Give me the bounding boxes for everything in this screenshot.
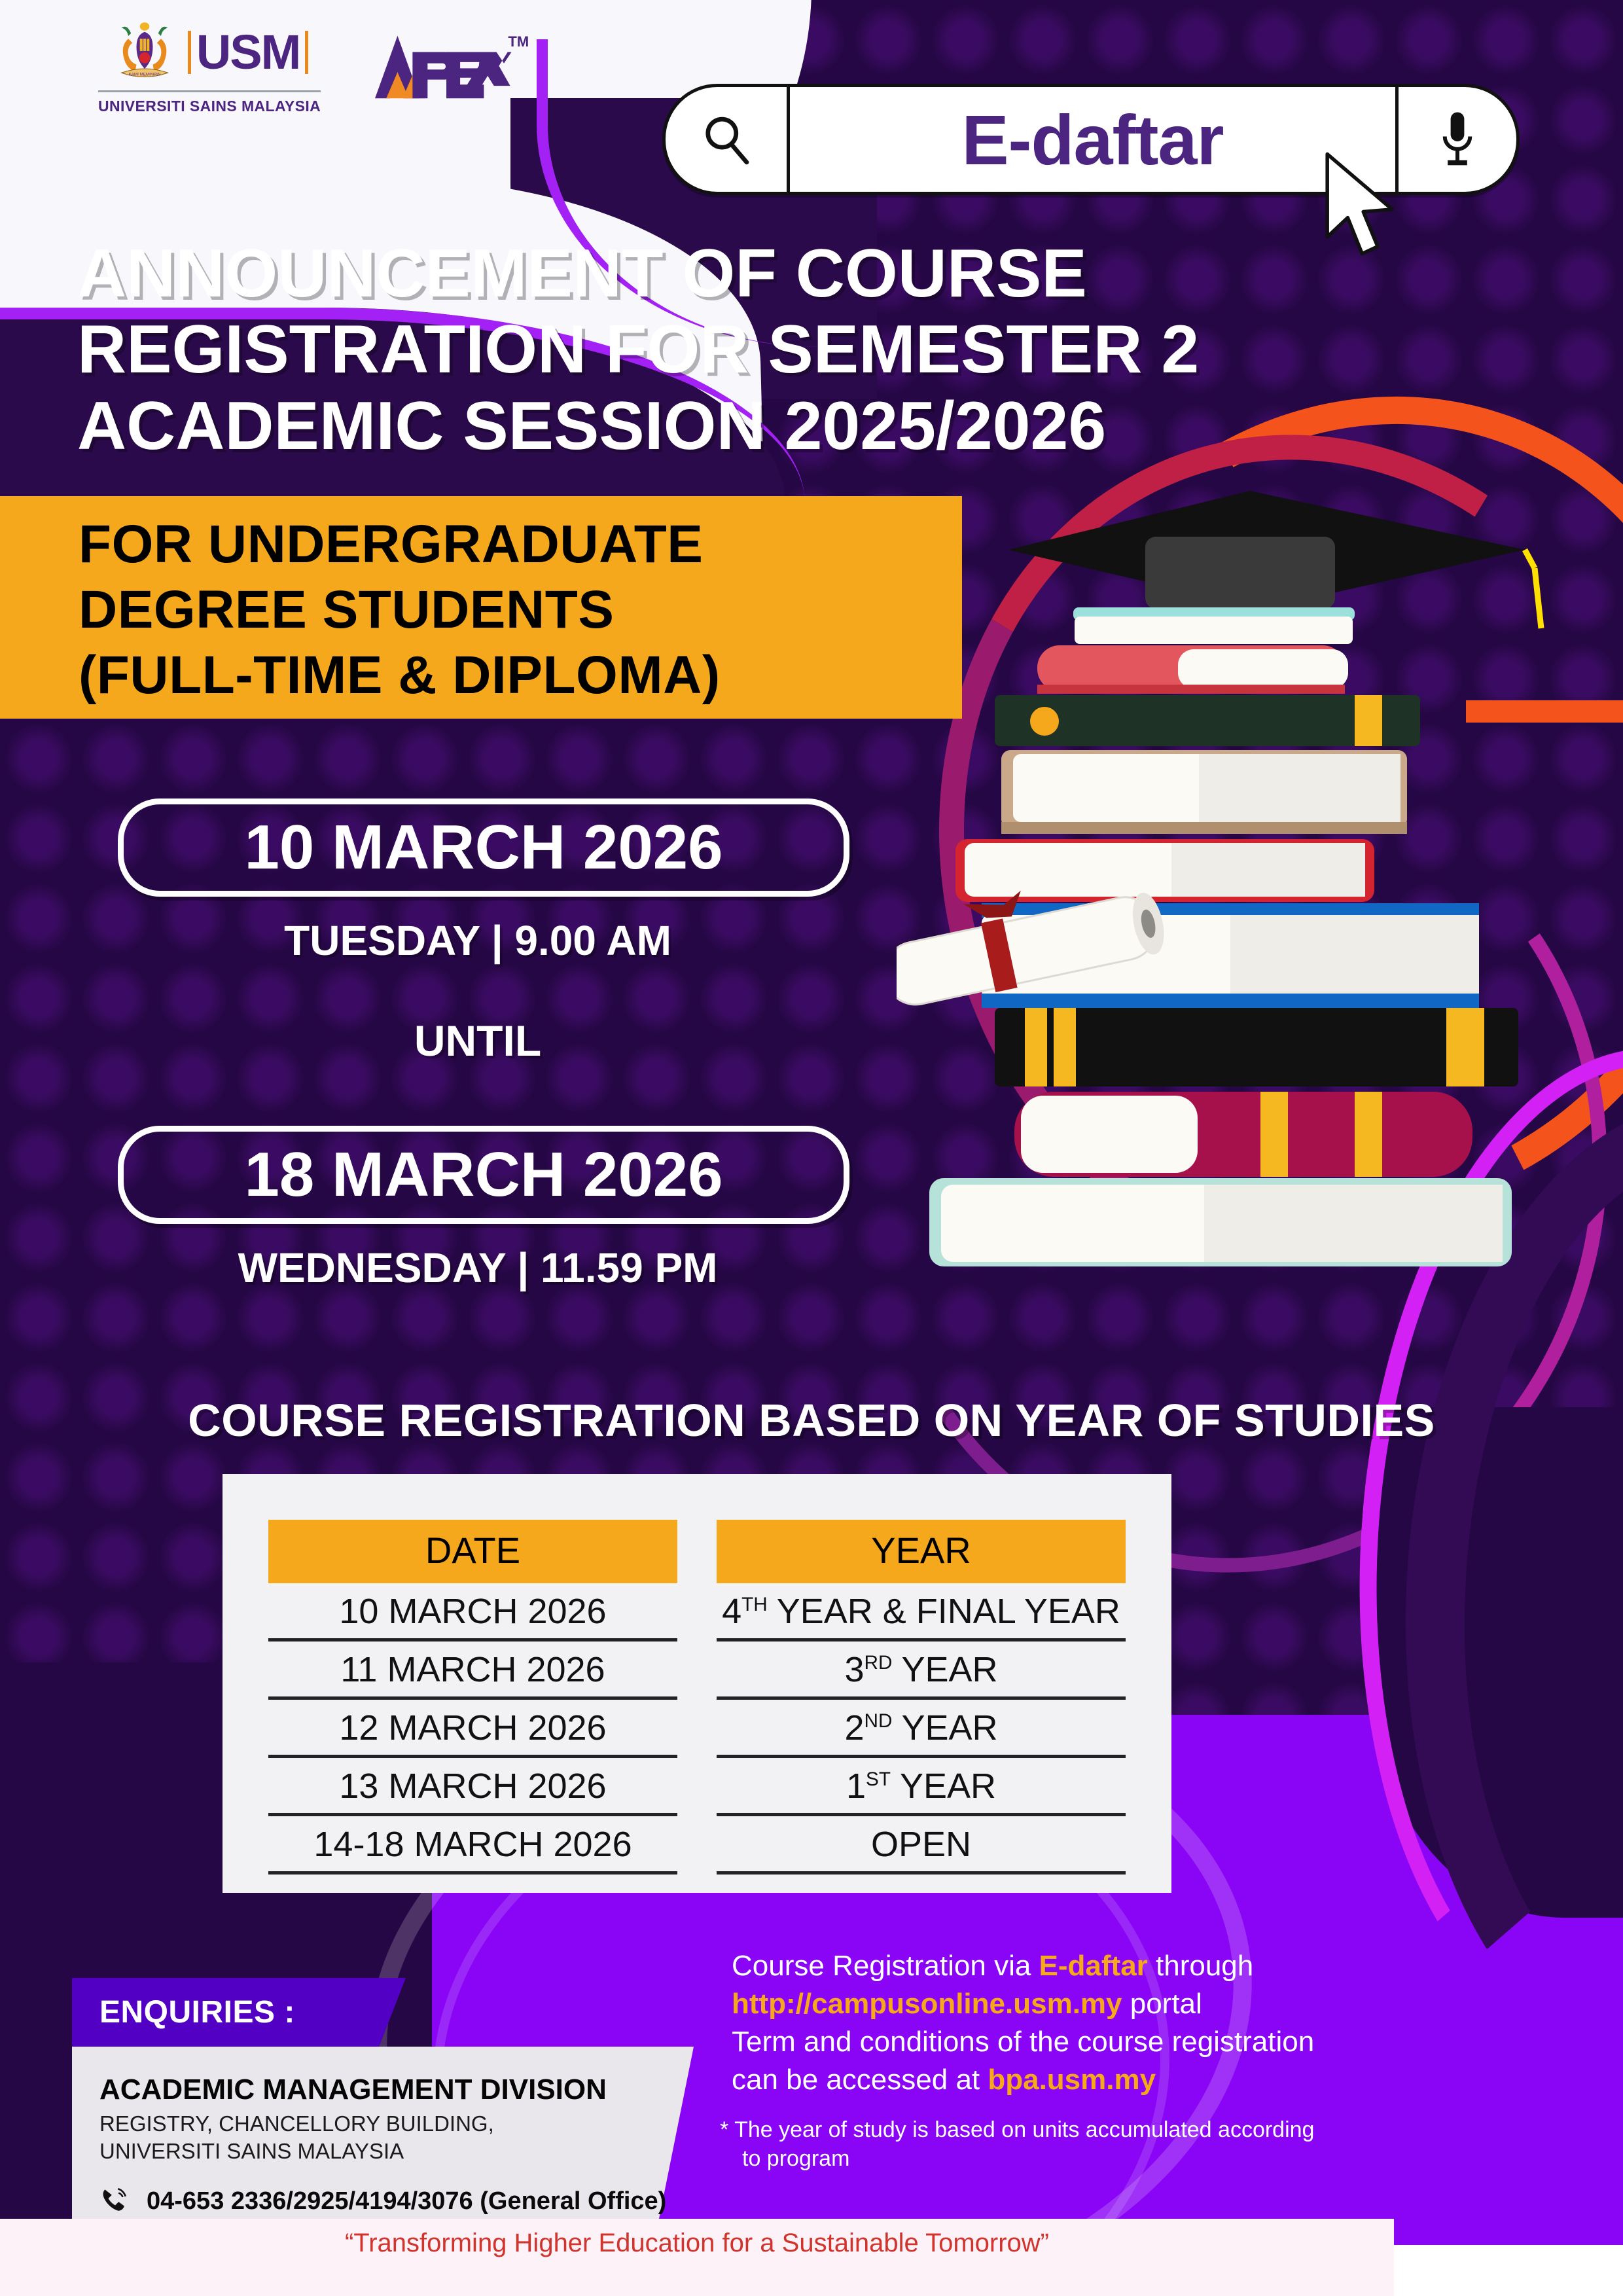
footer-tagline: “Transforming Higher Education for a Sus… bbox=[0, 2229, 1394, 2258]
cursor-arrow-icon bbox=[1322, 151, 1407, 255]
usm-logo: KAMI MEMIMPIN USM UNIVERSITI SAINS MALAY… bbox=[98, 18, 321, 115]
column-header-date: DATE bbox=[268, 1520, 677, 1583]
usm-crest-icon: KAMI MEMIMPIN bbox=[111, 18, 179, 86]
portal-link[interactable]: http://campusonline.usm.my bbox=[732, 1988, 1122, 2020]
phone-icon bbox=[99, 2185, 130, 2218]
page-title-line-2: REGISTRATION FOR SEMESTER 2 bbox=[77, 312, 1255, 387]
audience-line-1: FOR UNDERGRADUATE bbox=[79, 512, 721, 577]
terms-link[interactable]: bpa.usm.my bbox=[988, 2064, 1156, 2096]
table-row: OPEN bbox=[717, 1816, 1126, 1874]
enquiries-address-line-2: UNIVERSITI SAINS MALAYSIA bbox=[99, 2138, 688, 2165]
column-header-year: YEAR bbox=[717, 1520, 1126, 1583]
until-label: UNTIL bbox=[118, 1016, 838, 1066]
info-line-4: can be accessed at bpa.usm.my bbox=[732, 2061, 1504, 2099]
enquiries-address-line-1: REGISTRY, CHANCELLORY BUILDING, bbox=[99, 2110, 688, 2138]
schedule-table: DATE 10 MARCH 2026 11 MARCH 2026 12 MARC… bbox=[223, 1474, 1171, 1893]
schedule-heading: COURSE REGISTRATION BASED ON YEAR OF STU… bbox=[0, 1394, 1623, 1446]
year-of-study-note: * The year of study is based on units ac… bbox=[720, 2115, 1505, 2173]
microphone-icon[interactable] bbox=[1395, 87, 1516, 192]
svg-text:KAMI MEMIMPIN: KAMI MEMIMPIN bbox=[128, 72, 160, 77]
page-title-line-1: ANNOUNCEMENT OF COURSE bbox=[77, 236, 1255, 312]
table-row: 4TH YEAR & FINAL YEAR bbox=[717, 1583, 1126, 1641]
start-date-detail: TUESDAY | 9.00 AM bbox=[118, 916, 838, 965]
audience-band: FOR UNDERGRADUATE DEGREE STUDENTS (FULL-… bbox=[0, 496, 962, 719]
usm-wordmark: USM bbox=[188, 31, 308, 75]
logo-lockup: KAMI MEMIMPIN USM UNIVERSITI SAINS MALAY… bbox=[98, 18, 514, 115]
search-icon[interactable] bbox=[666, 87, 790, 192]
table-row: 12 MARCH 2026 bbox=[268, 1700, 677, 1758]
books-illustration bbox=[897, 452, 1551, 1368]
apex-logo: TM bbox=[351, 31, 514, 103]
enquiries-tab-label: ENQUIRIES : bbox=[99, 1994, 295, 2030]
poster-canvas: KAMI MEMIMPIN USM UNIVERSITI SAINS MALAY… bbox=[0, 0, 1623, 2296]
schedule-column-year: YEAR 4TH YEAR & FINAL YEAR 3RD YEAR 2ND … bbox=[717, 1520, 1126, 1874]
schedule-column-date: DATE 10 MARCH 2026 11 MARCH 2026 12 MARC… bbox=[268, 1520, 677, 1874]
end-date-detail: WEDNESDAY | 11.59 PM bbox=[118, 1244, 838, 1292]
info-line-1: Course Registration via E-daftar through bbox=[732, 1947, 1504, 1985]
audience-band-text: FOR UNDERGRADUATE DEGREE STUDENTS (FULL-… bbox=[79, 512, 721, 708]
table-row: 1ST YEAR bbox=[717, 1758, 1126, 1816]
info-line-3: Term and conditions of the course regist… bbox=[732, 2023, 1504, 2061]
audience-line-2: DEGREE STUDENTS bbox=[79, 577, 721, 643]
page-title: ANNOUNCEMENT OF COURSE REGISTRATION FOR … bbox=[77, 236, 1255, 464]
enquiries-tab: ENQUIRIES : bbox=[72, 1978, 406, 2047]
note-line-2: to program bbox=[720, 2144, 1505, 2173]
enquiries-address: REGISTRY, CHANCELLORY BUILDING, UNIVERSI… bbox=[99, 2110, 688, 2165]
search-input[interactable]: E-daftar bbox=[790, 99, 1395, 181]
note-line-1: * The year of study is based on units ac… bbox=[720, 2115, 1505, 2144]
start-date-pill: 10 MARCH 2026 bbox=[118, 798, 849, 897]
enquiries-phone-row: 04-653 2336/2925/4194/3076 (General Offi… bbox=[99, 2185, 688, 2218]
info-line-2: http://campusonline.usm.my portal bbox=[732, 1985, 1504, 2023]
registration-info: Course Registration via E-daftar through… bbox=[732, 1947, 1504, 2099]
footer-violet-block bbox=[1394, 2219, 1623, 2245]
footer-white-block bbox=[1394, 2245, 1623, 2296]
end-date-pill: 18 MARCH 2026 bbox=[118, 1126, 849, 1224]
table-row: 13 MARCH 2026 bbox=[268, 1758, 677, 1816]
table-row: 2ND YEAR bbox=[717, 1700, 1126, 1758]
apex-trademark: TM bbox=[508, 33, 529, 50]
table-row: 3RD YEAR bbox=[717, 1641, 1126, 1700]
table-row: 14-18 MARCH 2026 bbox=[268, 1816, 677, 1874]
table-row: 11 MARCH 2026 bbox=[268, 1641, 677, 1700]
table-row: 10 MARCH 2026 bbox=[268, 1583, 677, 1641]
usm-caption: UNIVERSITI SAINS MALAYSIA bbox=[98, 90, 321, 115]
enquiries-org: ACADEMIC MANAGEMENT DIVISION bbox=[99, 2073, 688, 2106]
enquiries-phone: 04-653 2336/2925/4194/3076 (General Offi… bbox=[147, 2187, 666, 2215]
audience-line-3: (FULL-TIME & DIPLOMA) bbox=[79, 643, 721, 708]
